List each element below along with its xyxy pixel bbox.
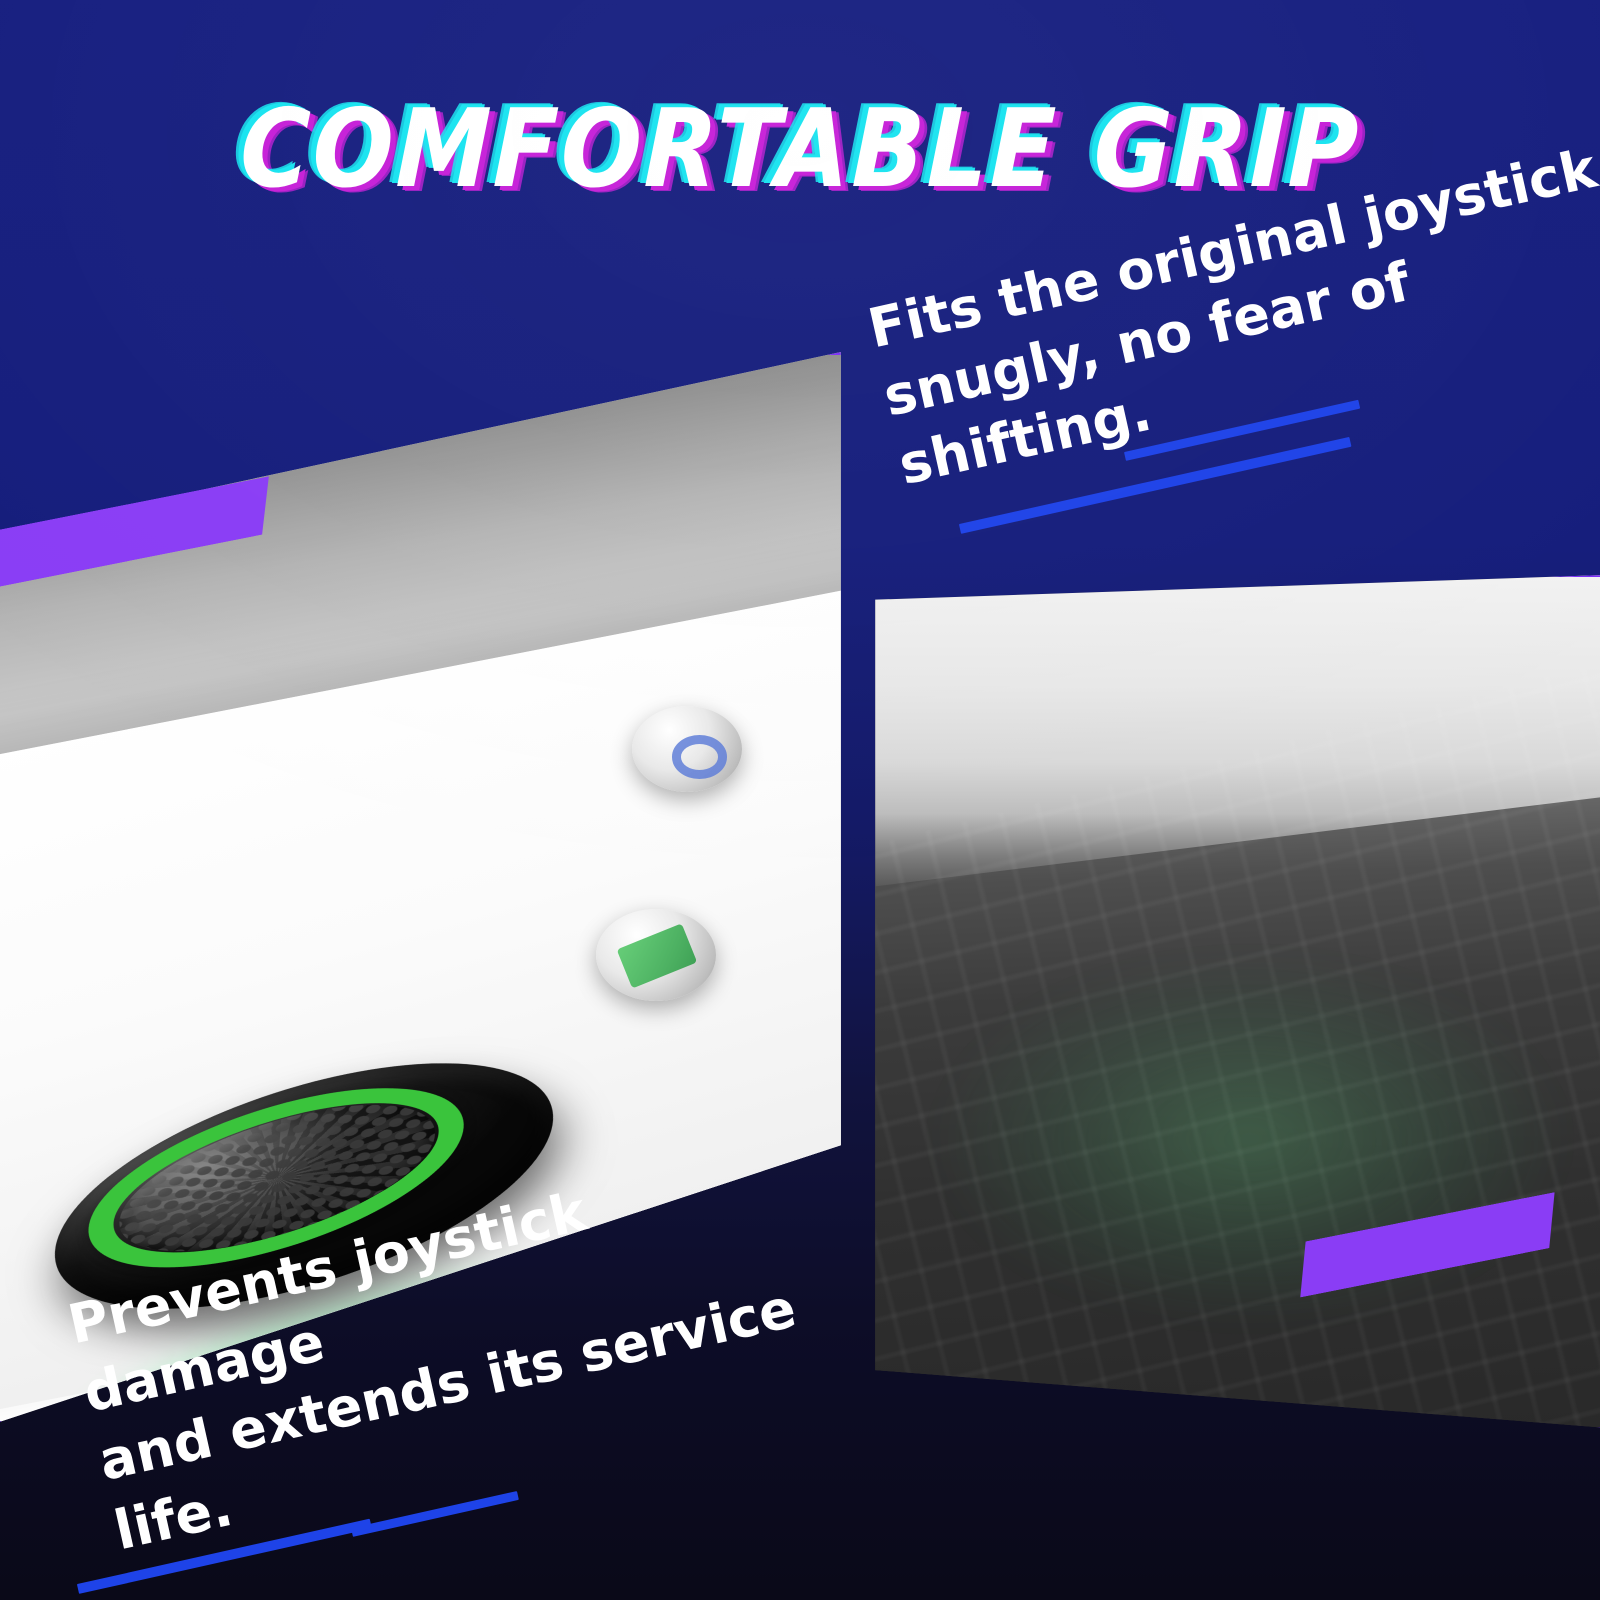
circle-symbol-icon: [672, 735, 727, 779]
triangle-symbol-icon: [617, 924, 697, 989]
panel-right-dark-controller: [866, 574, 1600, 1430]
page-title: COMFORTABLE GRIP: [238, 96, 1362, 204]
face-button-circle: [632, 706, 742, 792]
face-button-triangle: [596, 909, 716, 1001]
green-glow-pool: [927, 951, 1572, 1328]
product-banner: COMFORTABLE GRIP: [0, 0, 1600, 1600]
right-photo-scene: [866, 574, 1600, 1430]
